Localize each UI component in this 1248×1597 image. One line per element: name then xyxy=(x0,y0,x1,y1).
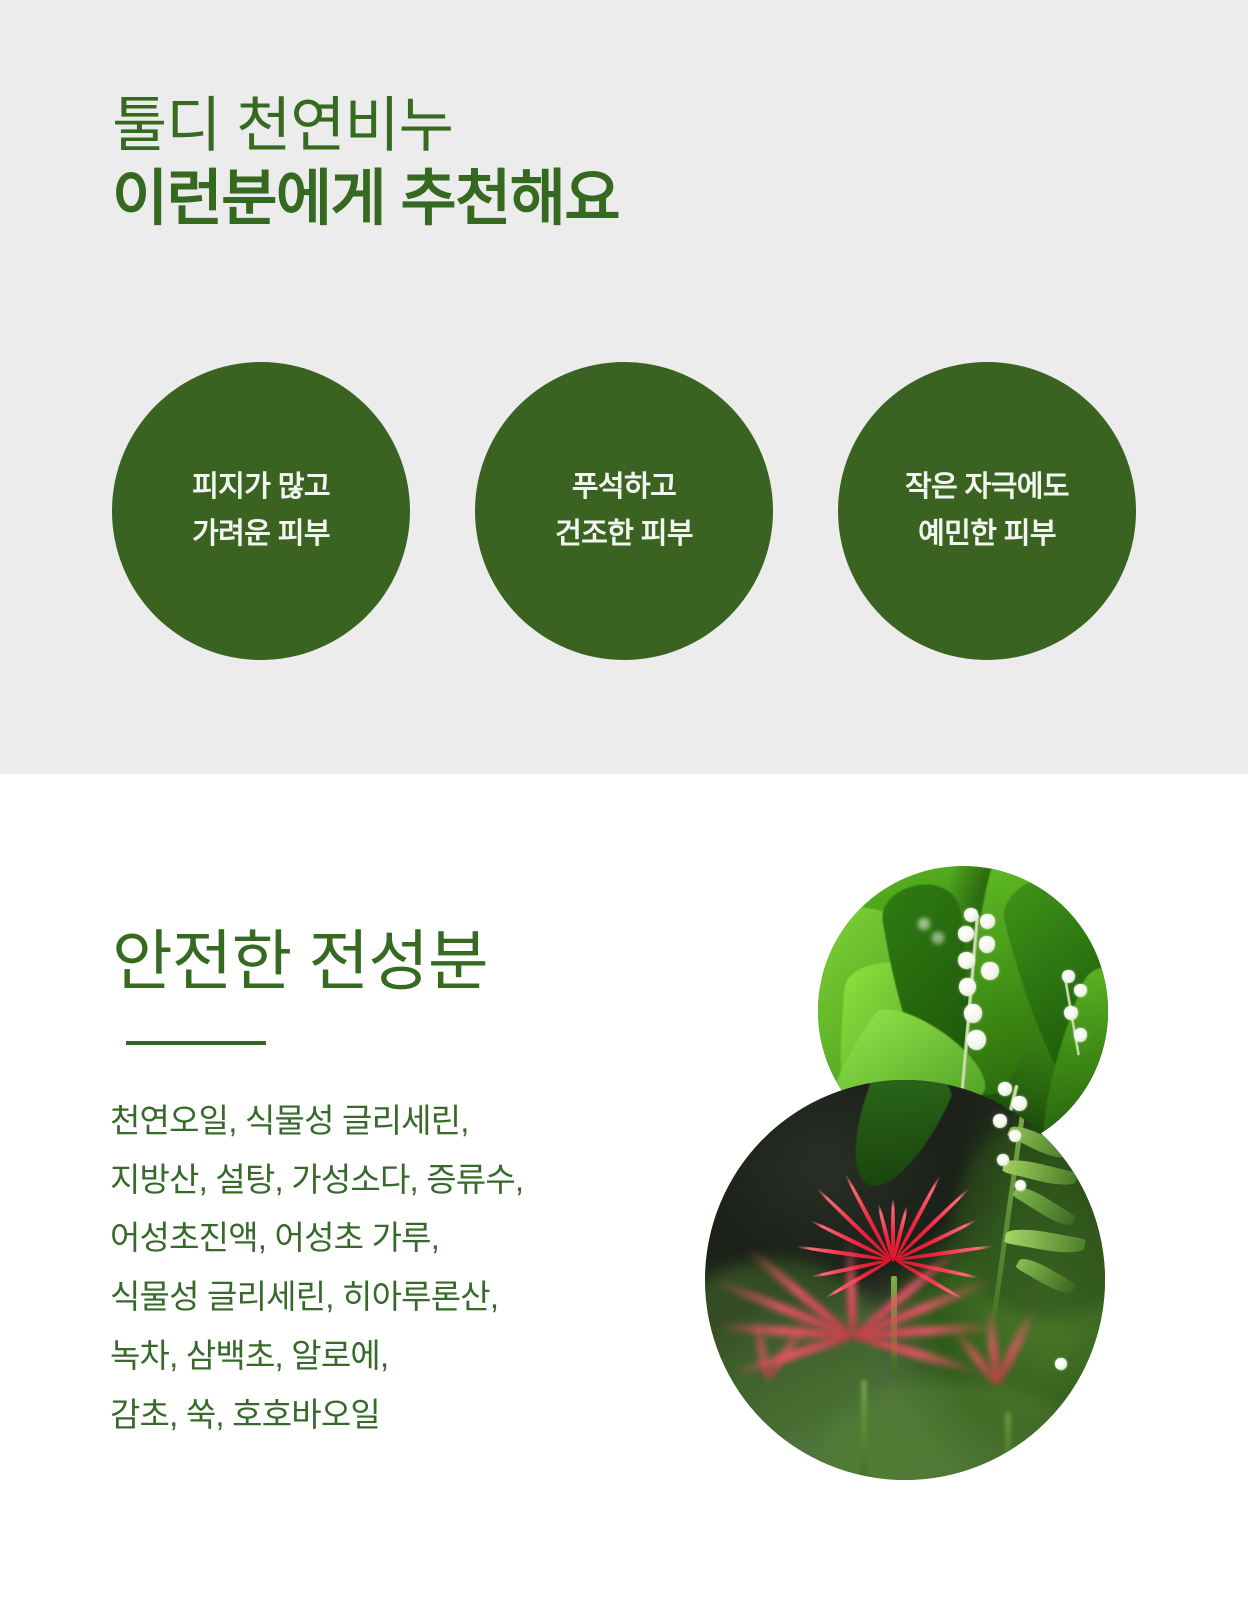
recommendation-headline: 이런분에게 추천해요 xyxy=(112,163,1012,235)
recommendation-section: 툴디 천연비누 이런분에게 추천해요 피지가 많고 가려운 피부 푸석하고 건조… xyxy=(0,0,1248,774)
skin-type-circle-rough-dry-skin: 푸석하고 건조한 피부 xyxy=(475,362,773,660)
ingredient-line: 감초, 쑥, 호호바오일 xyxy=(110,1386,710,1445)
heading-divider-rule xyxy=(126,1041,266,1045)
skin-type-line-2: 예민한 피부 xyxy=(918,511,1056,558)
skin-type-circle-row: 피지가 많고 가려운 피부 푸석하고 건조한 피부 작은 자극에도 예민한 피부 xyxy=(112,362,1136,660)
skin-type-line-1: 푸석하고 xyxy=(572,464,676,511)
ingredient-line: 천연오일, 식물성 글리세린, xyxy=(110,1092,710,1151)
ingredient-line: 어성초진액, 어성초 가루, xyxy=(110,1209,710,1268)
skin-type-line-1: 작은 자극에도 xyxy=(905,464,1069,511)
skin-type-circle-sensitive-skin: 작은 자극에도 예민한 피부 xyxy=(838,362,1136,660)
brand-eyebrow-text: 툴디 천연비누 xyxy=(112,92,1012,159)
product-detail-page: 툴디 천연비누 이런분에게 추천해요 피지가 많고 가려운 피부 푸석하고 건조… xyxy=(0,0,1248,1597)
ingredients-heading: 안전한 전성분 xyxy=(112,925,488,998)
ingredient-line: 식물성 글리세린, 히아루론산, xyxy=(110,1268,710,1327)
skin-type-line-1: 피지가 많고 xyxy=(192,464,330,511)
ingredients-list: 천연오일, 식물성 글리세린, 지방산, 설탕, 가성소다, 증류수, 어성초진… xyxy=(110,1092,710,1444)
skin-type-line-2: 가려운 피부 xyxy=(192,511,330,558)
red-spider-lily-photo xyxy=(705,1080,1105,1480)
ingredient-line: 지방산, 설탕, 가성소다, 증류수, xyxy=(110,1151,710,1210)
ingredient-photo-stack xyxy=(690,860,1140,1500)
skin-type-line-2: 건조한 피부 xyxy=(555,511,693,558)
recommendation-headline-block: 툴디 천연비누 이런분에게 추천해요 xyxy=(112,92,1012,235)
ingredient-line: 녹차, 삼백초, 알로에, xyxy=(110,1327,710,1386)
skin-type-circle-oily-itchy-skin: 피지가 많고 가려운 피부 xyxy=(112,362,410,660)
